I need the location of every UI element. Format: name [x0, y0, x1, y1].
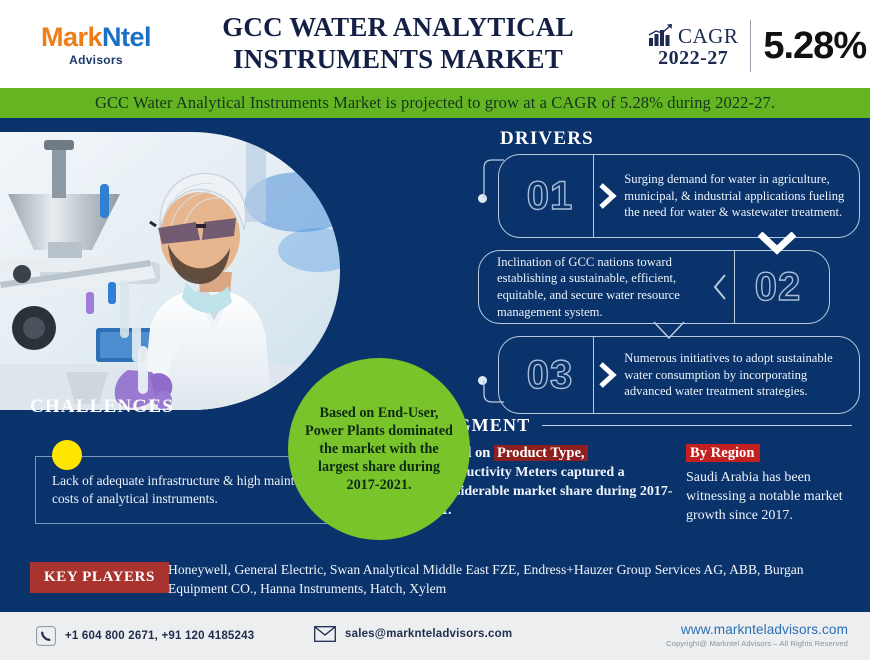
driver-down-arrow-icon	[754, 232, 800, 256]
end-user-callout-text: Based on End-User, Power Plants dominate…	[288, 404, 470, 495]
cagr-block: CAGR 2022-27 5.28%	[648, 18, 866, 74]
challenge-marker-icon	[52, 440, 82, 470]
cagr-top-row: CAGR	[648, 23, 738, 47]
segment-region-body: Saudi Arabia has been witnessing a notab…	[686, 468, 866, 525]
segment-by-region: By Region Saudi Arabia has been witnessi…	[686, 444, 866, 525]
footer-email[interactable]: sales@marknteladvisors.com	[314, 626, 512, 642]
footer: +1 604 800 2671, +91 120 4185243 sales@m…	[0, 612, 870, 660]
footer-phone-text: +1 604 800 2671, +91 120 4185243	[65, 630, 254, 642]
logo-wordmark: MarkNtel	[26, 24, 166, 51]
page-title: GCC WATER ANALYTICAL INSTRUMENTS MARKET	[178, 12, 618, 76]
segment-product-type-heading: Based on Product Type,	[434, 444, 674, 463]
phone-icon	[36, 626, 56, 646]
chevron-right-icon	[598, 360, 618, 390]
driver-item-01: 01 Surging demand for water in agricultu…	[498, 154, 860, 238]
cagr-value: 5.28%	[751, 25, 866, 68]
envelope-icon	[314, 626, 336, 642]
driver-item-02: Inclination of GCC nations toward establ…	[478, 250, 830, 324]
segment-rule	[542, 425, 852, 426]
headline-banner-text: GCC Water Analytical Instruments Market …	[95, 93, 775, 113]
segment-region-highlight: By Region	[686, 444, 760, 462]
headline-banner: GCC Water Analytical Instruments Market …	[0, 88, 870, 118]
footer-phone[interactable]: +1 604 800 2671, +91 120 4185243	[36, 626, 254, 646]
driver-number: 01	[507, 176, 593, 216]
segment-heading-highlight: Product Type,	[494, 445, 588, 461]
key-players-list: Honeywell, General Electric, Swan Analyt…	[168, 560, 840, 599]
drivers-title: DRIVERS	[500, 128, 594, 150]
header: MarkNtel Advisors GCC WATER ANALYTICAL I…	[0, 0, 870, 88]
driver-number: 03	[507, 355, 593, 395]
footer-email-text: sales@marknteladvisors.com	[345, 628, 512, 640]
logo-part-mark: Mark	[41, 22, 102, 52]
footer-copyright: Copyright@ Markntel Advisors – All Right…	[666, 639, 848, 648]
logo-tagline: Advisors	[26, 53, 166, 67]
driver-text: Numerous initiatives to adopt sustainabl…	[624, 350, 859, 400]
segment-region-heading: By Region	[686, 444, 866, 463]
bar-chart-growth-icon	[648, 23, 674, 47]
driver-separator	[593, 337, 594, 413]
cagr-label: CAGR	[678, 26, 738, 47]
logo-part-ntel: Ntel	[102, 22, 151, 52]
drivers-group: 01 Surging demand for water in agricultu…	[478, 154, 860, 414]
driver-text: Inclination of GCC nations toward establ…	[479, 254, 708, 321]
cagr-left: CAGR 2022-27	[648, 23, 750, 70]
driver-separator	[593, 155, 594, 237]
footer-website-block[interactable]: www.marknteladvisors.com Copyright@ Mark…	[666, 622, 848, 648]
chevron-left-icon	[710, 272, 730, 302]
lab-photo-illustration	[0, 132, 340, 410]
key-players-badge: KEY PLAYERS	[30, 562, 169, 593]
driver-number: 02	[735, 267, 821, 307]
cagr-years: 2022-27	[648, 47, 738, 70]
lab-photo	[0, 132, 340, 410]
challenges-title: CHALLENGES	[30, 396, 174, 418]
driver-text: Surging demand for water in agriculture,…	[624, 171, 859, 221]
chevron-right-icon	[598, 181, 618, 211]
end-user-callout: Based on End-User, Power Plants dominate…	[288, 358, 470, 540]
footer-website-url[interactable]: www.marknteladvisors.com	[666, 622, 848, 637]
brand-logo[interactable]: MarkNtel Advisors	[26, 24, 166, 67]
infographic-page: MarkNtel Advisors GCC WATER ANALYTICAL I…	[0, 0, 870, 660]
main-body: Based on End-User, Power Plants dominate…	[0, 118, 870, 610]
segment-product-type-body: Conductivity Meters captured a considera…	[434, 463, 674, 520]
driver-down-chevron-icon	[646, 320, 692, 342]
segment-product-type: Based on Product Type, Conductivity Mete…	[434, 444, 674, 520]
driver-item-03: 03 Numerous initiatives to adopt sustain…	[498, 336, 860, 414]
segment-header: SEGMENT	[432, 415, 852, 436]
